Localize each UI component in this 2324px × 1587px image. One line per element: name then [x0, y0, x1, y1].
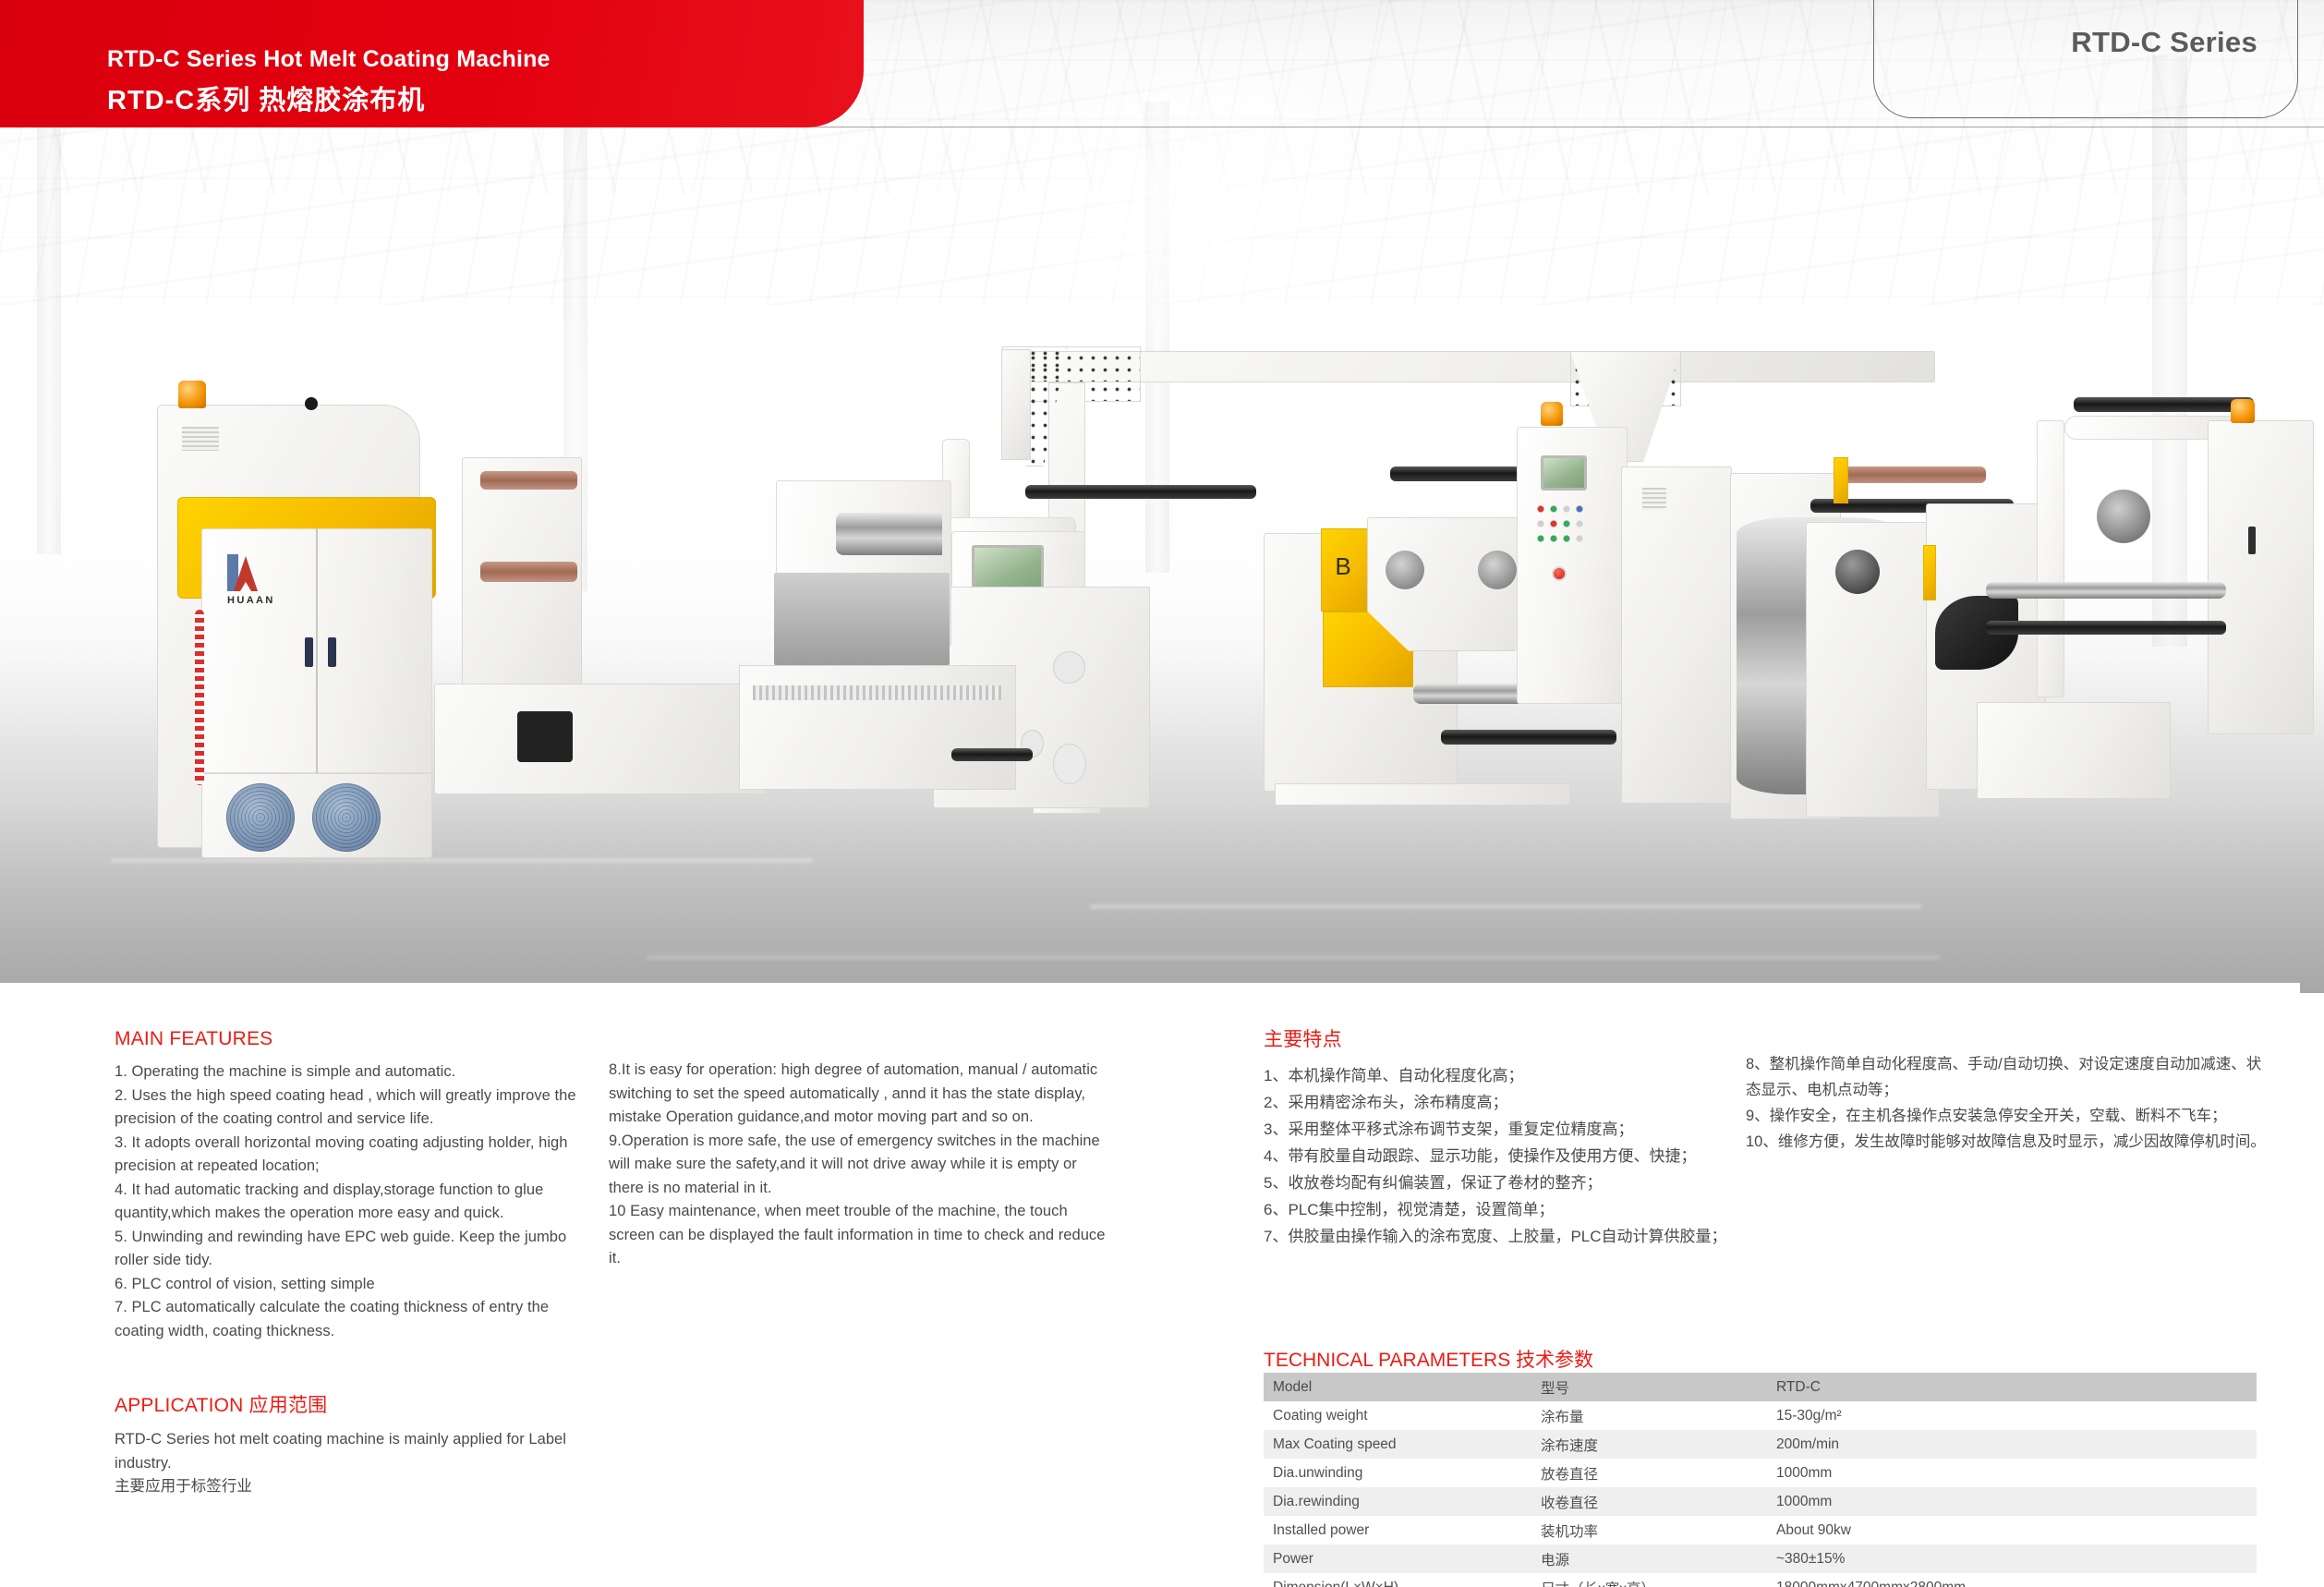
warning-beacon	[2231, 399, 2255, 423]
coating-station-base	[739, 665, 1016, 790]
cell-param-cn: 尺寸（长x宽x高）	[1531, 1573, 1767, 1587]
main-features-list-col1: 1. Operating the machine is simple and a…	[115, 1060, 595, 1343]
col-header-en: Model	[1264, 1373, 1531, 1401]
cell-param-en: Dia.rewinding	[1264, 1487, 1531, 1516]
table-row: Dia.unwinding放卷直径1000mm	[1264, 1459, 2257, 1487]
logo-text: HUAAN	[227, 595, 275, 606]
gantry-left-leg	[1001, 349, 1031, 460]
feature-item: 8.It is easy for operation: high degree …	[609, 1059, 1108, 1130]
cell-param-cn: 涂布速度	[1531, 1430, 1767, 1459]
roll-chuck	[1386, 551, 1424, 589]
main-features-title: MAIN FEATURES	[115, 1028, 595, 1050]
technical-parameters-section: TECHNICAL PARAMETERS 技术参数 Model型号RTD-CCo…	[1264, 1345, 2257, 1587]
cell-param-cn: 涂布量	[1531, 1401, 1767, 1430]
access-port	[1053, 744, 1086, 784]
feature-item: 2. Uses the high speed coating head , wh…	[115, 1084, 595, 1132]
feature-item: 3. It adopts overall horizontal moving c…	[115, 1132, 595, 1179]
gearbox	[517, 711, 573, 762]
wall-pillar	[37, 111, 61, 554]
coiled-air-hose	[195, 610, 204, 785]
electrical-cabinet	[1621, 466, 1732, 804]
guide-roller	[1441, 730, 1616, 745]
series-tab-label: RTD-C Series	[2071, 26, 2257, 59]
features-cn-list-col2-wrap: 8、整机操作简单自动化程度高、手动/自动切换、对设定速度自动加减速、状态显示、电…	[1746, 1051, 2272, 1155]
feature-item: 5. Unwinding and rewinding have EPC web …	[115, 1226, 595, 1273]
application-line-cn: 主要应用于标签行业	[115, 1475, 595, 1499]
station-label-b: B	[1333, 552, 1353, 580]
feature-item-cn: 1、本机操作简单、自动化程度化高；	[1264, 1062, 1753, 1089]
drive-motor	[312, 783, 381, 852]
copper-roller	[480, 562, 577, 582]
machine-right-end-frame	[2208, 420, 2314, 734]
feature-item: 9.Operation is more safe, the use of eme…	[609, 1130, 1108, 1201]
access-port	[1053, 651, 1085, 684]
features-cn-section: 主要特点 1、本机操作简单、自动化程度化高； 2、采用精密涂布头，涂布精度高； …	[1264, 1024, 1753, 1250]
pendant-control-knob	[305, 397, 318, 410]
cell-param-en: Dia.unwinding	[1264, 1459, 1531, 1487]
machine-base-rail	[1275, 783, 1570, 806]
guide-roller	[2074, 397, 2254, 412]
hose-bundle	[774, 573, 950, 665]
conveyor-plate	[753, 685, 1002, 700]
drive-motor	[226, 783, 295, 852]
feature-item-cn: 5、收放卷均配有纠偏装置，保证了卷材的整齐；	[1264, 1169, 1753, 1196]
console-screen[interactable]	[1541, 455, 1587, 491]
table-row: Power电源~380±15%	[1264, 1545, 2257, 1573]
cell-param-cn: 装机功率	[1531, 1516, 1767, 1545]
feature-item: 6. PLC control of vision, setting simple	[115, 1273, 595, 1297]
features-cn-list-col2: 8、整机操作简单自动化程度高、手动/自动切换、对设定速度自动加减速、状态显示、电…	[1746, 1051, 2272, 1155]
yellow-marker	[1834, 457, 1848, 503]
feature-item-cn: 9、操作安全，在主机各操作点安装急停安全开关，空载、断料不飞车；	[1746, 1103, 2272, 1129]
cell-param-value: 1000mm	[1767, 1487, 2257, 1516]
wall-pillar	[2152, 55, 2187, 647]
feature-item-cn: 10、维修方便，发生故障时能够对故障信息及时显示，减少因故障停机时间。	[1746, 1129, 2272, 1155]
cell-param-en: Coating weight	[1264, 1401, 1531, 1430]
feature-item: 10 Easy maintenance, when meet trouble o…	[609, 1200, 1108, 1271]
banner-title-en: RTD-C Series Hot Melt Coating Machine	[107, 46, 551, 73]
col-header-val: RTD-C	[1767, 1373, 2257, 1401]
rewind-base	[1977, 702, 2171, 799]
technical-parameters-table: Model型号RTD-CCoating weight涂布量15-30g/m²Ma…	[1264, 1373, 2257, 1587]
steel-roller	[1986, 582, 2226, 599]
feature-item-cn: 2、采用精密涂布头，涂布精度高；	[1264, 1089, 1753, 1116]
col-header-cn: 型号	[1531, 1373, 1767, 1401]
vent-grille	[1642, 488, 1666, 510]
rewind-arm	[2037, 420, 2064, 697]
cell-param-en: Max Coating speed	[1264, 1430, 1531, 1459]
guide-roller	[1025, 485, 1256, 499]
door-handle	[305, 637, 313, 667]
cell-param-value: About 90kw	[1767, 1516, 2257, 1545]
logo-arrow-notch	[240, 582, 251, 591]
application-text: RTD-C Series hot melt coating machine is…	[115, 1428, 595, 1499]
rewind-chuck	[2097, 490, 2150, 543]
huaan-logo: HUAAN	[227, 554, 283, 610]
door-handle	[2248, 527, 2256, 554]
guide-roller	[1986, 621, 2226, 635]
brochure-page: HUAAN	[0, 0, 2324, 1587]
cell-param-value: 200m/min	[1767, 1430, 2257, 1459]
cell-param-cn: 收卷直径	[1531, 1487, 1767, 1516]
table-row: Dimension(L×W×H)尺寸（长x宽x高）18000mmx4700mmx…	[1264, 1573, 2257, 1587]
floor-reflection	[647, 956, 1940, 959]
door-handle	[328, 637, 336, 667]
main-features-list-col2-wrap: 8.It is easy for operation: high degree …	[609, 1059, 1108, 1271]
floor-reflection	[1090, 905, 1921, 908]
yellow-marker	[1923, 545, 1936, 600]
features-cn-list-col1: 1、本机操作简单、自动化程度化高； 2、采用精密涂布头，涂布精度高； 3、采用整…	[1264, 1062, 1753, 1250]
cell-param-cn: 放卷直径	[1531, 1459, 1767, 1487]
motor-fins	[312, 783, 381, 852]
table-row: Max Coating speed涂布速度200m/min	[1264, 1430, 2257, 1459]
features-cn-title: 主要特点	[1264, 1024, 1753, 1052]
feature-item-cn: 8、整机操作简单自动化程度高、手动/自动切换、对设定速度自动加减速、状态显示、电…	[1746, 1051, 2272, 1103]
console-button-pad[interactable]	[1535, 503, 1592, 561]
title-banner: RTD-C Series Hot Melt Coating Machine RT…	[0, 0, 864, 127]
floor-reflection	[111, 859, 813, 862]
cell-param-en: Installed power	[1264, 1516, 1531, 1545]
copper-roller	[1838, 466, 1986, 483]
copper-roller	[480, 471, 577, 490]
main-features-section: MAIN FEATURES 1. Operating the machine i…	[115, 1028, 595, 1343]
cell-param-cn: 电源	[1531, 1545, 1767, 1573]
cell-param-en: Dimension(L×W×H)	[1264, 1573, 1531, 1587]
ceiling-light-glow	[942, 74, 1459, 351]
cabinet-door-seam	[316, 528, 318, 773]
guide-roller	[951, 748, 1033, 761]
application-section: APPLICATION 应用范围 RTD-C Series hot melt c…	[115, 1390, 595, 1499]
content-panel: MAIN FEATURES 1. Operating the machine i…	[0, 983, 2300, 1587]
table-row: Dia.rewinding收卷直径1000mm	[1264, 1487, 2257, 1516]
application-line: RTD-C Series hot melt coating machine is…	[115, 1428, 595, 1475]
feature-item-cn: 4、带有胶量自动跟踪、显示功能，使操作及使用方便、快捷；	[1264, 1143, 1753, 1169]
gantry-beam	[1002, 351, 1935, 382]
cell-param-value: 15-30g/m²	[1767, 1401, 2257, 1430]
table-row: Coating weight涂布量15-30g/m²	[1264, 1401, 2257, 1430]
feature-item: 1. Operating the machine is simple and a…	[115, 1060, 595, 1084]
series-tab-outline	[1873, 0, 2298, 118]
cell-param-en: Power	[1264, 1545, 1531, 1573]
roll-chuck	[1478, 551, 1517, 589]
machine-bed	[434, 684, 767, 794]
banner-title-cn: RTD-C系列 热熔胶涂布机	[107, 79, 425, 117]
application-title: APPLICATION 应用范围	[115, 1390, 595, 1418]
feature-item-cn: 6、PLC集中控制，视觉清楚，设置简单；	[1264, 1196, 1753, 1223]
table-row: Installed power装机功率About 90kw	[1264, 1516, 2257, 1545]
vent-grille	[182, 427, 219, 451]
emergency-stop-button[interactable]	[1552, 566, 1567, 581]
cell-param-value: ~380±15%	[1767, 1545, 2257, 1573]
coating-roller	[836, 513, 942, 555]
cell-param-value: 1000mm	[1767, 1459, 2257, 1487]
main-features-list-col2: 8.It is easy for operation: high degree …	[609, 1059, 1108, 1271]
table-header-row: Model型号RTD-C	[1264, 1373, 2257, 1401]
feature-item: 7. PLC automatically calculate the coati…	[115, 1296, 595, 1343]
warning-beacon	[1541, 402, 1563, 426]
technical-parameters-title: TECHNICAL PARAMETERS 技术参数	[1264, 1345, 2257, 1373]
feature-item-cn: 7、供胶量由操作输入的涂布宽度、上胶量，PLC自动计算供胶量；	[1264, 1223, 1753, 1250]
roller-bearing	[1835, 550, 1880, 594]
feature-item: 4. It had automatic tracking and display…	[115, 1179, 595, 1226]
motor-fins	[226, 783, 295, 852]
product-photo: HUAAN	[0, 0, 2324, 993]
feature-item-cn: 3、采用整体平移式涂布调节支架，重复定位精度高；	[1264, 1116, 1753, 1143]
warning-beacon	[178, 381, 206, 408]
cell-param-value: 18000mmx4700mmx2800mm	[1767, 1573, 2257, 1587]
